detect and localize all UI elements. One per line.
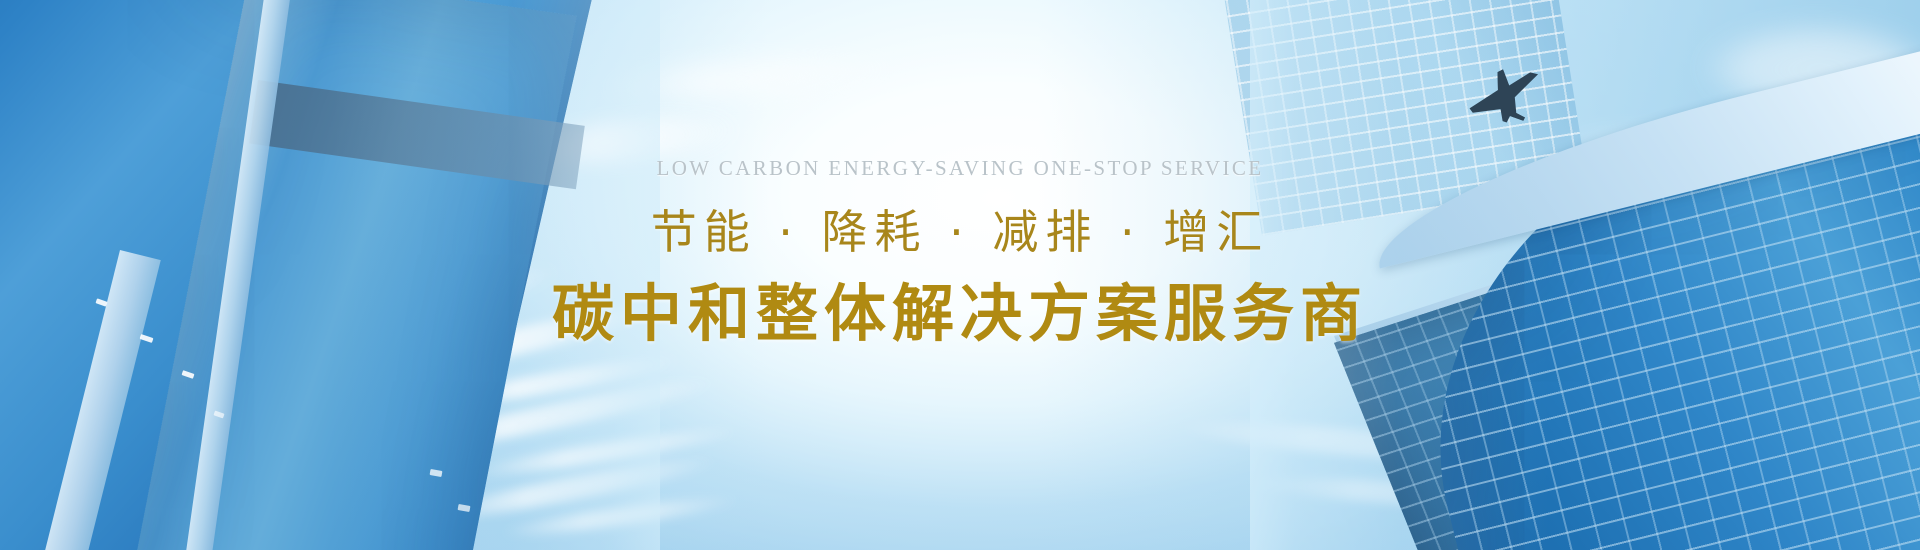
banner-copy: LOW CARBON ENERGY-SAVING ONE-STOP SERVIC… — [0, 0, 1920, 550]
hero-banner: LOW CARBON ENERGY-SAVING ONE-STOP SERVIC… — [0, 0, 1920, 550]
banner-subheadline: 节能 · 降耗 · 减排 · 增汇 — [651, 209, 1270, 255]
banner-eyebrow: LOW CARBON ENERGY-SAVING ONE-STOP SERVIC… — [657, 158, 1264, 179]
banner-headline: 碳中和整体解决方案服务商 — [552, 283, 1368, 345]
